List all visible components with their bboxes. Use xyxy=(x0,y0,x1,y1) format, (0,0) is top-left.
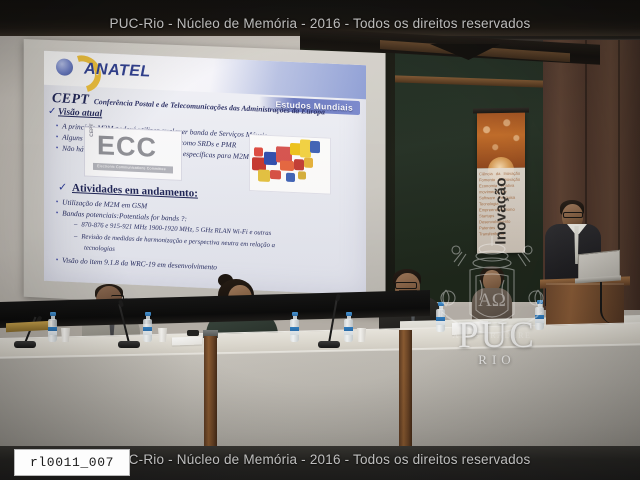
ecc-logo-box: CEPT ECC Electronic Communications Commi… xyxy=(84,127,182,181)
image-id-text: rl0011_007 xyxy=(30,455,114,470)
gooseneck-microphone xyxy=(318,296,342,348)
bottle-cap xyxy=(537,300,543,304)
bottle-cap xyxy=(145,312,151,316)
bottle-label xyxy=(290,327,299,335)
inovacao-banner: Ciência da Inovação Fomento à inovação E… xyxy=(477,113,525,254)
slide-title-expansion: Conferência Postal e de Telecomunicações… xyxy=(94,97,325,116)
mic-head xyxy=(335,294,341,302)
gooseneck-microphone xyxy=(118,300,142,348)
bottle-cap xyxy=(438,302,444,306)
slide-body: CEPT Conferência Postal e de Telecomunic… xyxy=(44,85,366,296)
water-bottle xyxy=(535,300,544,330)
remote-device xyxy=(187,330,199,336)
papers xyxy=(452,321,488,335)
bottle-label xyxy=(535,315,544,323)
table-wooden-post xyxy=(204,336,217,460)
europe-flag-map-graphic xyxy=(249,134,331,195)
glasses-icon xyxy=(395,282,417,289)
mic-stem xyxy=(118,304,130,343)
anatel-logo-text: ANATEL xyxy=(84,61,151,82)
slide-bullet: Visão do item 9.1.8 da WRC-19 em desenvo… xyxy=(56,255,217,271)
anatel-sphere-icon xyxy=(56,58,73,76)
slide-section2-heading: Atividades em andamento: xyxy=(72,182,198,200)
mic-base xyxy=(118,341,140,348)
glasses-icon xyxy=(563,212,583,218)
bottle-cap xyxy=(292,312,298,316)
mic-head xyxy=(118,300,124,308)
bottle-label xyxy=(436,317,445,325)
mic-base xyxy=(318,341,340,348)
mic-stem xyxy=(328,299,338,343)
slide-sub-bullet: tecnologias xyxy=(84,245,115,253)
bottle-cap xyxy=(346,312,352,316)
ecc-acronym: ECC xyxy=(97,130,157,164)
bottle-label xyxy=(143,327,152,335)
bottle-cap xyxy=(50,312,56,316)
check-icon: ✓ xyxy=(48,106,56,117)
papers xyxy=(172,336,202,345)
mic-base xyxy=(14,341,36,348)
photograph: ANATEL Estudos Mundiais CEPT Conferência… xyxy=(0,0,640,480)
image-id-label: rl0011_007 xyxy=(14,449,130,476)
ecc-cept-label: CEPT xyxy=(89,123,95,137)
ecc-bar-text: Electronic Communications Committee xyxy=(97,164,166,171)
water-bottle xyxy=(143,312,152,342)
bottle-label xyxy=(48,327,57,335)
table-wooden-post xyxy=(399,330,412,448)
water-bottle xyxy=(436,302,445,332)
slide-title-acronym: CEPT xyxy=(52,91,89,108)
water-bottle xyxy=(290,312,299,342)
slide-section1-heading: Visão atual xyxy=(58,107,102,119)
banner-label: Inovação xyxy=(493,177,510,245)
presentation-slide: ANATEL Estudos Mundiais CEPT Conferência… xyxy=(44,51,366,296)
ecc-bar: Electronic Communications Committee xyxy=(93,163,173,174)
water-bottle xyxy=(48,312,57,342)
check-icon: ✓ xyxy=(58,180,67,193)
banner-bottom-panel: Ciência da Inovação Fomento à inovação E… xyxy=(477,168,525,254)
bottle-label xyxy=(344,327,353,335)
cable xyxy=(600,282,628,324)
water-bottle xyxy=(344,312,353,342)
